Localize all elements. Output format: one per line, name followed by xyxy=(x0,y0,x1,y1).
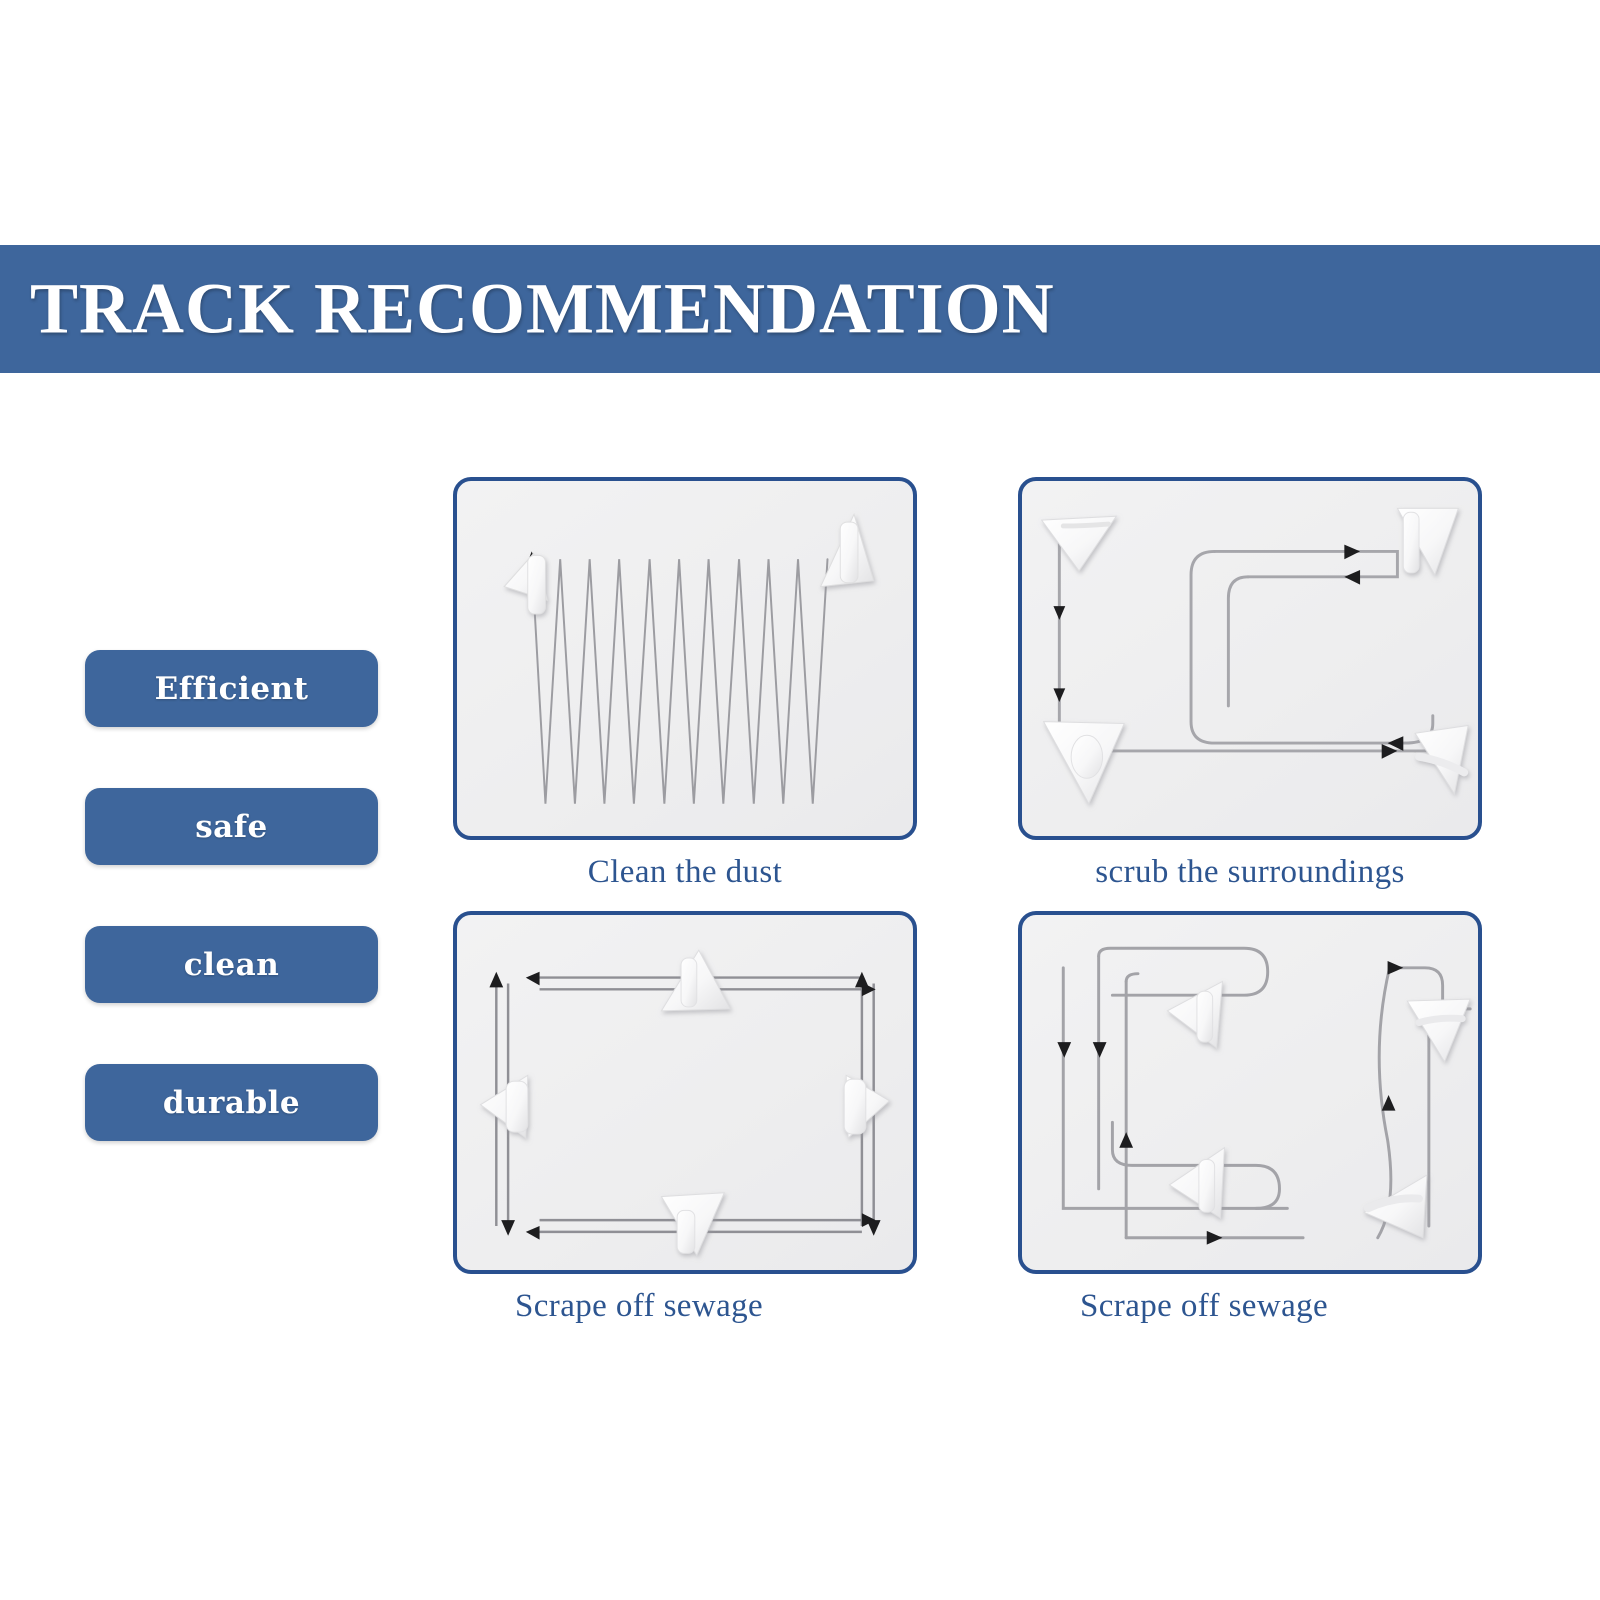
squeegee-icon xyxy=(661,950,730,1011)
page-title: TRACK RECOMMENDATION xyxy=(30,268,1055,351)
zigzag-stroke xyxy=(532,557,828,803)
diagram-panel-rectangular-loop[interactable] xyxy=(453,911,917,1274)
feature-pill-durable[interactable]: durable xyxy=(85,1064,378,1141)
diagram-cell-scrape-off-sewage-left: Scrape off sewage xyxy=(453,911,917,1325)
diagram-caption: Scrape off sewage xyxy=(1018,1288,1482,1325)
squeegee-icon xyxy=(1364,1175,1427,1238)
squeegee-icon xyxy=(481,1075,528,1138)
feature-pill-label: Efficient xyxy=(155,671,309,707)
arrow-head-up xyxy=(855,972,869,988)
squeegee-icon xyxy=(1167,982,1222,1049)
feature-list: Efficient safe clean durable xyxy=(85,650,378,1141)
diagram-cell-scrape-off-sewage-right: Scrape off sewage xyxy=(1018,911,1482,1325)
feature-pill-label: clean xyxy=(184,947,280,983)
diagram-grid: Clean the dust xyxy=(453,477,1483,1307)
feature-pill-label: durable xyxy=(163,1085,300,1121)
diagram-panel-serpentine-edges[interactable] xyxy=(1018,911,1482,1274)
feature-pill-safe[interactable]: safe xyxy=(85,788,378,865)
arrow-head-down xyxy=(1053,688,1065,702)
diagram-panel-perimeter-spiral[interactable] xyxy=(1018,477,1482,840)
arrow-head-left xyxy=(1344,570,1360,585)
arrow-head-up xyxy=(1119,1132,1133,1148)
diagram-caption: Scrape off sewage xyxy=(453,1288,917,1325)
spiral-stroke xyxy=(1059,538,1432,751)
arrow-head-down xyxy=(1093,1042,1107,1058)
squeegee-icon xyxy=(1415,725,1468,793)
zigzag-path-diagram xyxy=(457,481,913,836)
squeegee-icon xyxy=(821,514,874,586)
feature-pill-efficient[interactable]: Efficient xyxy=(85,650,378,727)
squeegee-icon xyxy=(1407,999,1470,1062)
header-banner: TRACK RECOMMENDATION xyxy=(0,245,1600,373)
arrow-head-down xyxy=(1053,606,1065,620)
perimeter-spiral-path-diagram xyxy=(1022,481,1478,836)
squeegee-icon xyxy=(1044,722,1125,804)
squeegee-icon xyxy=(1042,516,1117,571)
arrow-head-up xyxy=(489,972,503,988)
arrow-head-right xyxy=(1344,545,1360,560)
diagram-cell-clean-the-dust: Clean the dust xyxy=(453,477,917,891)
diagram-panel-zigzag[interactable] xyxy=(453,477,917,840)
squeegee-icon xyxy=(844,1075,889,1138)
feature-pill-clean[interactable]: clean xyxy=(85,926,378,1003)
diagram-caption: Clean the dust xyxy=(453,854,917,891)
feature-pill-label: safe xyxy=(195,809,268,845)
arrow-head-up xyxy=(1382,1095,1396,1111)
serpentine-edge-path-diagram xyxy=(1022,915,1478,1270)
arrow-head-down xyxy=(867,1220,881,1236)
squeegee-icon xyxy=(1397,508,1458,575)
loop-stroke xyxy=(496,978,873,1232)
squeegee-icon xyxy=(504,553,547,614)
arrow-head-down xyxy=(501,1220,515,1236)
arrow-head-right xyxy=(1388,961,1404,975)
arrow-head-down xyxy=(1057,1042,1071,1058)
arrow-head-right xyxy=(1207,1231,1223,1245)
arrow-head-left xyxy=(526,1226,540,1240)
diagram-cell-scrub-the-surroundings: scrub the surroundings xyxy=(1018,477,1482,891)
diagram-caption: scrub the surroundings xyxy=(1018,854,1482,891)
squeegee-icon xyxy=(661,1193,724,1256)
rectangular-loop-path-diagram xyxy=(457,915,913,1270)
arrow-head-left xyxy=(526,972,540,986)
